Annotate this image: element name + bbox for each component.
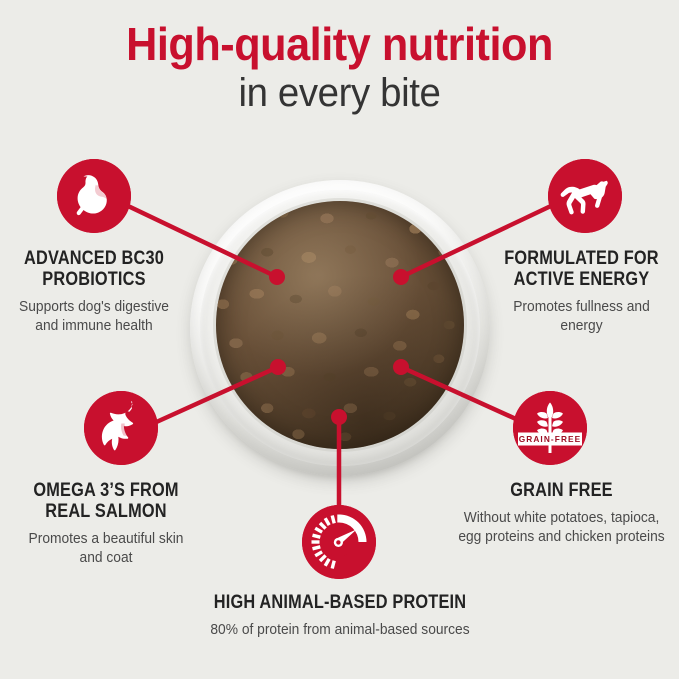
running-dog-icon (548, 159, 622, 233)
feature-omega-3-text: OMEGA 3’S FROM REAL SALMON Promotes a be… (8, 480, 204, 567)
infographic-canvas: High-quality nutrition in every bite (0, 0, 679, 679)
feature-active-energy-desc: Promotes fullness and energy (492, 297, 671, 335)
feature-grain-free-title: GRAIN FREE (460, 480, 662, 501)
gauge-meter-icon (302, 505, 376, 579)
feature-animal-protein-desc: 80% of protein from animal-based sources (165, 620, 515, 639)
bowl-of-kibble (186, 176, 494, 481)
grain-free-wheat-icon: GRAIN-FREE (513, 391, 587, 465)
stomach-icon (57, 159, 131, 233)
feature-probiotics-title: ADVANCED BC30 PROBIOTICS (13, 248, 175, 290)
feature-omega-3-desc: Promotes a beautiful skin and coat (16, 529, 196, 567)
feature-active-energy-title: FORMULATED FOR ACTIVE ENERGY (498, 248, 666, 290)
feature-grain-free-text: GRAIN FREE Without white potatoes, tapio… (444, 480, 679, 546)
feature-grain-free-desc: Without white potatoes, tapioca, egg pro… (453, 508, 669, 546)
kibble-pile (216, 201, 464, 449)
headline-line-2: in every bite (14, 70, 666, 116)
feature-omega-3-title: OMEGA 3’S FROM REAL SALMON (22, 480, 191, 522)
headline-line-1: High-quality nutrition (20, 18, 658, 70)
feature-animal-protein-text: HIGH ANIMAL-BASED PROTEIN 80% of protein… (150, 592, 530, 639)
grain-free-badge-label: GRAIN-FREE (519, 434, 582, 444)
feature-active-energy-text: FORMULATED FOR ACTIVE ENERGY Promotes fu… (484, 248, 679, 335)
feature-probiotics-desc: Supports dog's digestive and immune heal… (8, 297, 181, 335)
feature-probiotics-text: ADVANCED BC30 PROBIOTICS Supports dog's … (0, 248, 188, 335)
salmon-fish-icon (84, 391, 158, 465)
page-title: High-quality nutrition in every bite (0, 18, 679, 116)
feature-animal-protein-title: HIGH ANIMAL-BASED PROTEIN (177, 592, 504, 613)
